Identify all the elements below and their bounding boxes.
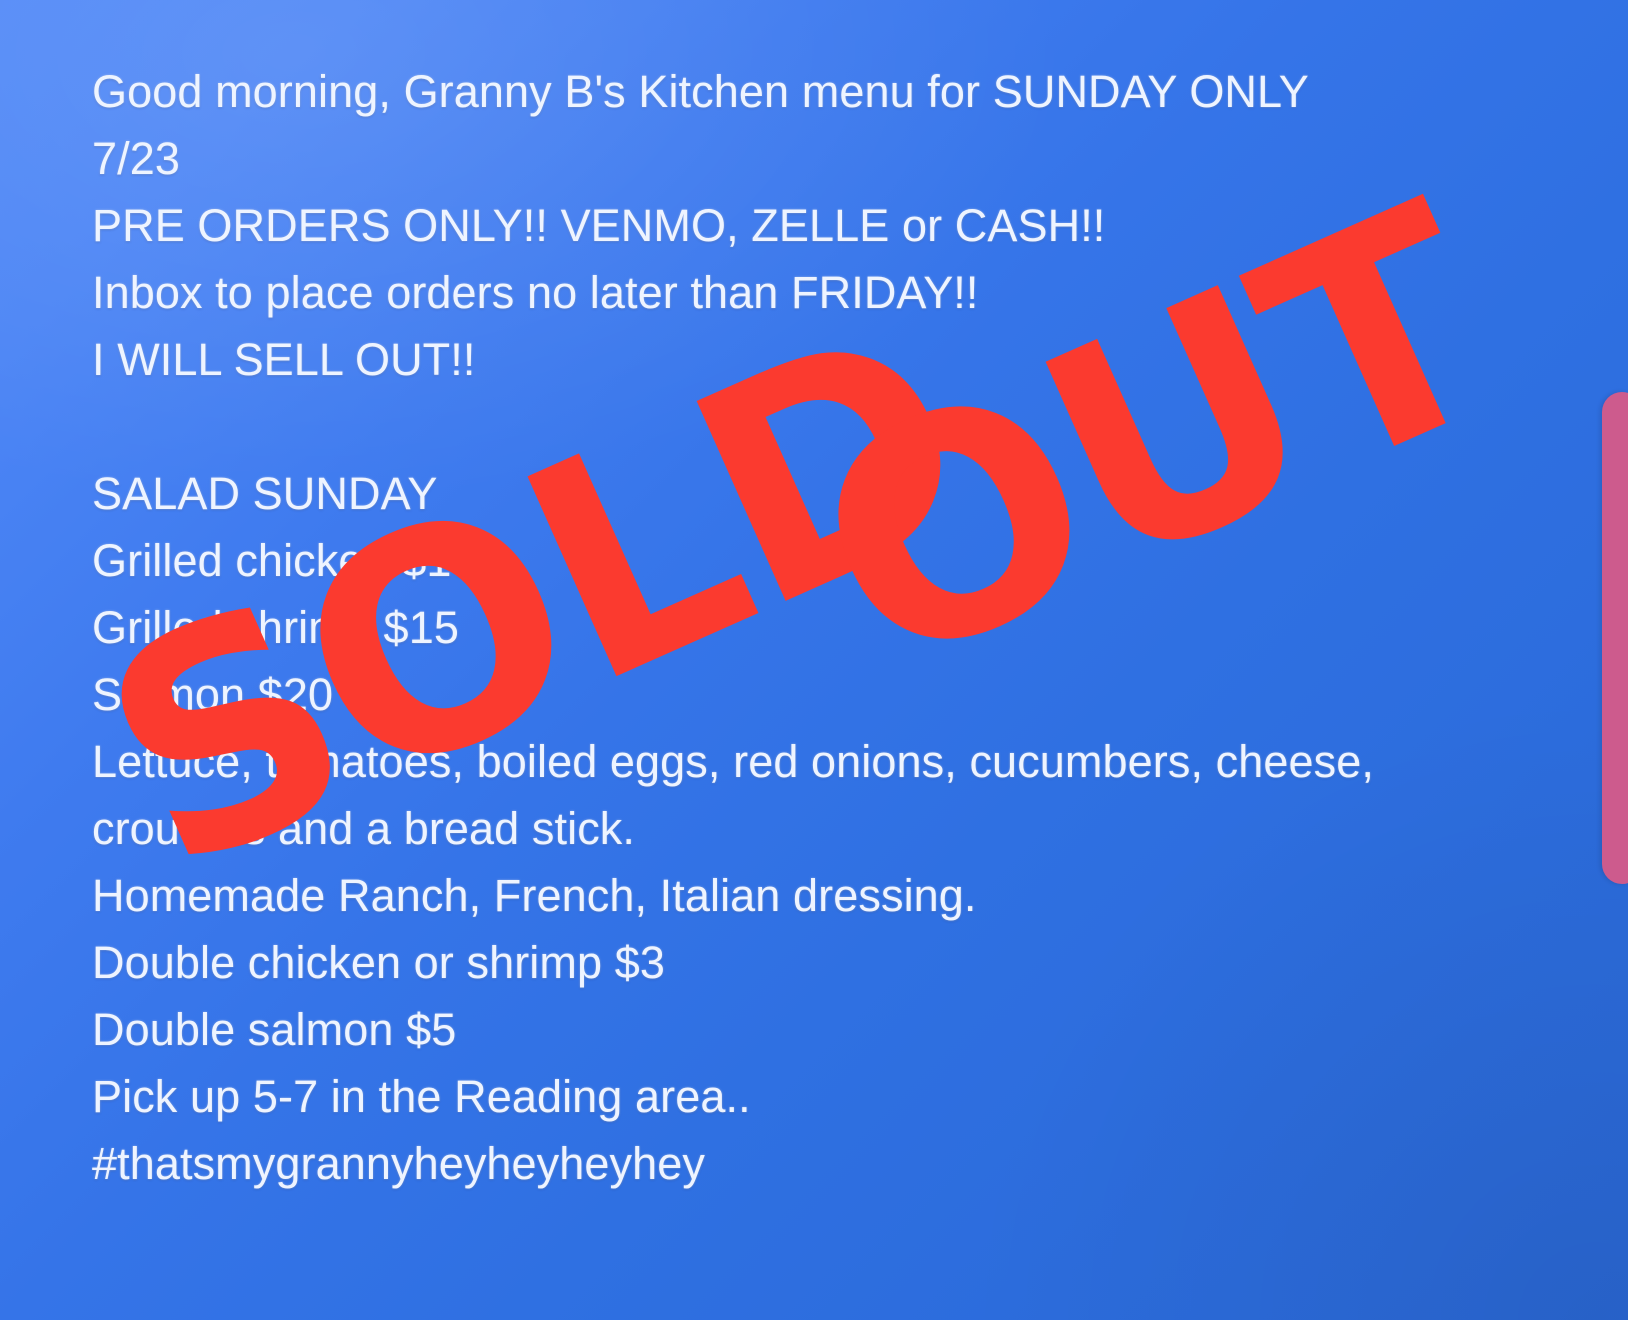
post-image-canvas: Good morning, Granny B's Kitchen menu fo… [0,0,1628,1320]
post-line-greeting: Good morning, Granny B's Kitchen menu fo… [92,58,1628,125]
post-line-includes-1: Lettuce, tomatoes, boiled eggs, red onio… [92,728,1628,795]
post-line-date: 7/23 [92,125,1628,192]
post-line-grilled-shrimp: Grilled shrimp $15 [92,594,1628,661]
post-line-order-deadline: Inbox to place orders no later than FRID… [92,259,1628,326]
post-line-double-salmon: Double salmon $5 [92,996,1628,1063]
post-line-grilled-chicken: Grilled chicken $15 [92,527,1628,594]
post-line-section-title: SALAD SUNDAY [92,460,1628,527]
post-text-block: Good morning, Granny B's Kitchen menu fo… [92,58,1628,1197]
post-line-sell-out: I WILL SELL OUT!! [92,326,1628,393]
post-line-hashtag: #thatsmygrannyheyheyheyhey [92,1130,1628,1197]
post-line-salmon: Salmon $20 [92,661,1628,728]
post-line-double-chicken: Double chicken or shrimp $3 [92,929,1628,996]
post-line-spacer [92,393,1628,460]
post-line-includes-2: croutons and a bread stick. [92,795,1628,862]
post-line-preorders: PRE ORDERS ONLY!! VENMO, ZELLE or CASH!! [92,192,1628,259]
post-line-dressings: Homemade Ranch, French, Italian dressing… [92,862,1628,929]
right-edge-panel[interactable] [1602,392,1628,884]
post-line-pickup: Pick up 5-7 in the Reading area.. [92,1063,1628,1130]
